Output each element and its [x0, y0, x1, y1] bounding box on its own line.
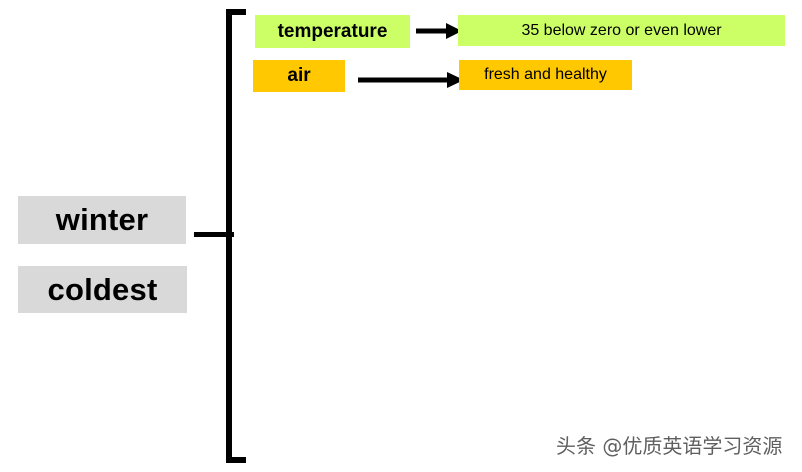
topic-box-coldest: coldest [18, 266, 187, 313]
watermark-text: 头条 @优质英语学习资源 [556, 430, 782, 459]
diagram-canvas: winter coldest temperature 35 below zero… [0, 0, 802, 472]
row-value-temperature: 35 below zero or even lower [458, 15, 785, 46]
right-arrow-icon [416, 22, 462, 40]
topic-box-winter: winter [18, 196, 186, 244]
row-label-temperature: temperature [255, 15, 410, 48]
row-value-air: fresh and healthy [459, 60, 632, 90]
right-arrow-icon [358, 71, 464, 89]
row-label-air: air [253, 60, 345, 92]
